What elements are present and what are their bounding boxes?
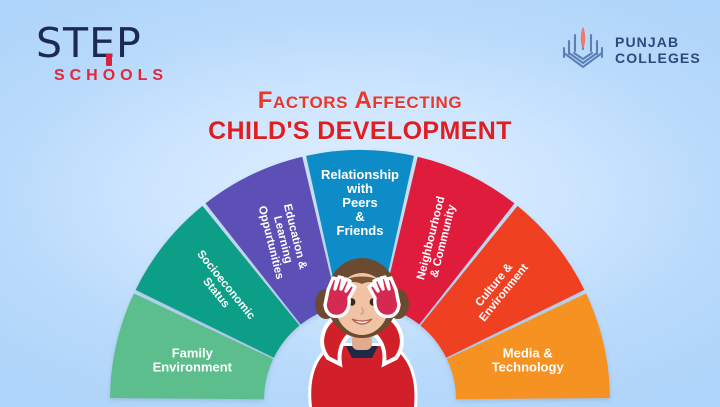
label-line: & [355,209,364,224]
label-line: Peers [342,195,377,210]
child-with-painted-hands-photo [268,246,456,407]
label-line: Media & [503,346,553,361]
label-line: Relationship [321,167,399,182]
infographic-canvas: STEP SCHOOLS [0,0,720,407]
label-line: with [346,181,373,196]
label-line: Family [172,346,214,361]
label-line: Friends [337,223,384,238]
label-line: Environment [153,360,233,375]
label-line: Technology [492,360,565,375]
